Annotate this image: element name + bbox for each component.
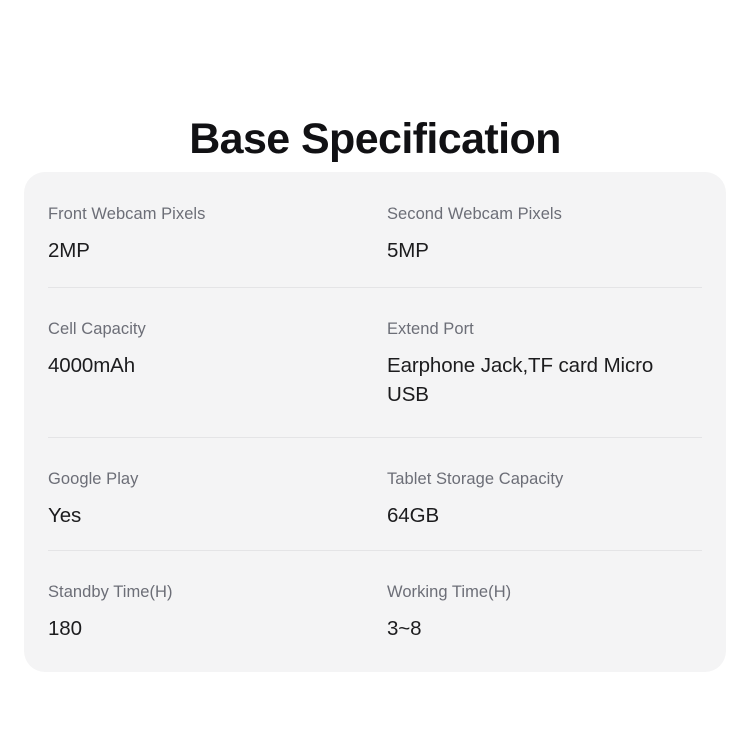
spec-sheet-page: Base Specification Front Webcam Pixels 2…: [0, 0, 750, 750]
spec-value: Earphone Jack,TF card Micro USB: [387, 351, 657, 410]
spec-cell-tablet-storage-capacity: Tablet Storage Capacity 64GB: [387, 437, 702, 550]
spec-value: 4000mAh: [48, 351, 318, 381]
spec-label: Working Time(H): [387, 582, 702, 603]
spec-cell-second-webcam-pixels: Second Webcam Pixels 5MP: [387, 172, 702, 287]
spec-cell-google-play: Google Play Yes: [48, 437, 387, 550]
page-title: Base Specification: [0, 115, 750, 164]
spec-cell-standby-time: Standby Time(H) 180: [48, 550, 387, 672]
spec-row: Front Webcam Pixels 2MP Second Webcam Pi…: [24, 172, 726, 287]
spec-cell-extend-port: Extend Port Earphone Jack,TF card Micro …: [387, 287, 702, 437]
spec-value: 3~8: [387, 614, 657, 644]
spec-cell-cell-capacity: Cell Capacity 4000mAh: [48, 287, 387, 437]
spec-table: Front Webcam Pixels 2MP Second Webcam Pi…: [24, 172, 726, 672]
spec-label: Google Play: [48, 469, 387, 490]
spec-value: 2MP: [48, 236, 318, 266]
spec-row: Google Play Yes Tablet Storage Capacity …: [24, 437, 726, 550]
spec-value: 5MP: [387, 236, 657, 266]
spec-label: Tablet Storage Capacity: [387, 469, 702, 490]
spec-label: Front Webcam Pixels: [48, 204, 387, 225]
spec-label: Second Webcam Pixels: [387, 204, 702, 225]
spec-value: 180: [48, 614, 318, 644]
spec-label: Extend Port: [387, 319, 702, 340]
spec-label: Standby Time(H): [48, 582, 387, 603]
spec-row: Standby Time(H) 180 Working Time(H) 3~8: [24, 550, 726, 672]
spec-value: 64GB: [387, 501, 657, 531]
spec-cell-front-webcam-pixels: Front Webcam Pixels 2MP: [48, 172, 387, 287]
spec-value: Yes: [48, 501, 318, 531]
spec-row: Cell Capacity 4000mAh Extend Port Earpho…: [24, 287, 726, 437]
base-specification-card: Front Webcam Pixels 2MP Second Webcam Pi…: [24, 172, 726, 672]
spec-label: Cell Capacity: [48, 319, 387, 340]
spec-cell-working-time: Working Time(H) 3~8: [387, 550, 702, 672]
